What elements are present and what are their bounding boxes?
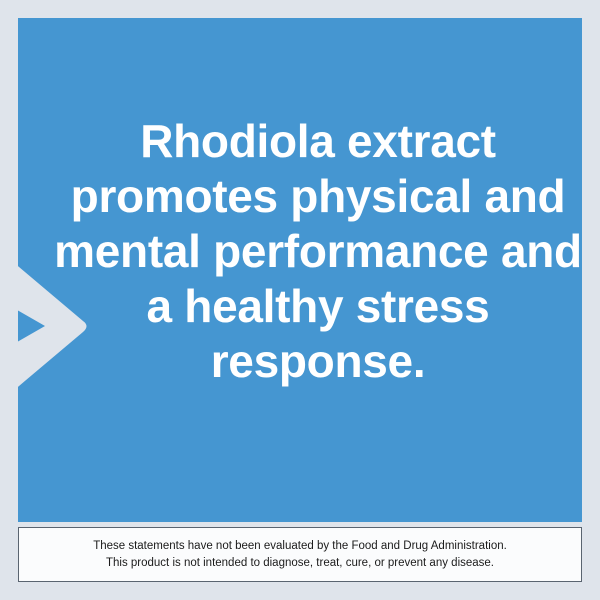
fda-disclaimer: These statements have not been evaluated… (18, 527, 582, 582)
promo-card: Rhodiola extract promotes physical and m… (0, 0, 600, 600)
page-title: Rhodiola extract promotes physical and m… (36, 114, 582, 389)
hero-panel: Rhodiola extract promotes physical and m… (18, 18, 582, 522)
disclaimer-line-1: These statements have not been evaluated… (93, 538, 507, 555)
disclaimer-line-2: This product is not intended to diagnose… (106, 555, 494, 572)
